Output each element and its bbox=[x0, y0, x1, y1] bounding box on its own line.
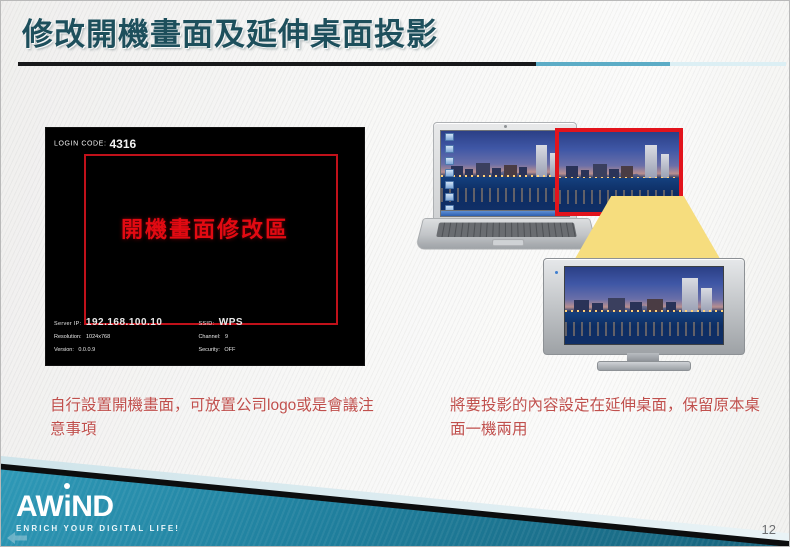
boot-info-right-column: SSID: WPS Channel: 9 Security: OFF bbox=[198, 317, 243, 356]
security-value: OFF bbox=[224, 347, 235, 353]
security-row: Security: OFF bbox=[198, 343, 243, 355]
boot-info-left-column: Server IP: 192.168.100.10 Resolution: 10… bbox=[54, 317, 194, 356]
editable-area-label: 開機畫面修改區 bbox=[46, 212, 364, 244]
desktop-icon[interactable] bbox=[445, 193, 454, 201]
server-ip-value: 192.168.100.10 bbox=[86, 317, 163, 328]
water-reflections bbox=[441, 188, 569, 202]
desktop-icons-column[interactable] bbox=[443, 133, 456, 208]
tv-bezel bbox=[543, 258, 745, 355]
laptop-base bbox=[415, 218, 598, 250]
desktop-icon[interactable] bbox=[445, 205, 454, 210]
desktop-icon[interactable] bbox=[445, 133, 454, 141]
channel-label: Channel: bbox=[198, 334, 220, 340]
desktop-icon[interactable] bbox=[445, 157, 454, 165]
slide-footer: AWiND ENRICH YOUR DIGITAL LIFE! bbox=[0, 450, 790, 547]
awind-logo: AWiND ENRICH YOUR DIGITAL LIFE! bbox=[16, 492, 180, 533]
desktop-icon[interactable] bbox=[445, 145, 454, 153]
resolution-value: 1024x768 bbox=[86, 334, 110, 340]
landmark-tower bbox=[536, 145, 548, 177]
water-reflections bbox=[565, 322, 723, 336]
version-row: Version: 0.0.0.9 bbox=[54, 343, 194, 355]
projector-tv-display bbox=[543, 258, 743, 370]
trackpad[interactable] bbox=[491, 239, 524, 246]
logo-letters-nd: ND bbox=[71, 490, 113, 523]
tv-screen bbox=[564, 266, 724, 345]
landmark-tower bbox=[701, 288, 712, 312]
boot-info-panel: Server IP: 192.168.100.10 Resolution: 10… bbox=[54, 317, 356, 356]
landmark-tower bbox=[661, 154, 669, 178]
laptop-screen bbox=[440, 130, 570, 211]
awind-tagline: ENRICH YOUR DIGITAL LIFE! bbox=[16, 525, 180, 533]
desktop-icon[interactable] bbox=[445, 169, 454, 177]
ssid-label: SSID: bbox=[198, 321, 214, 327]
power-led-icon bbox=[555, 271, 558, 274]
channel-value: 9 bbox=[225, 334, 228, 340]
desktop-icon[interactable] bbox=[445, 181, 454, 189]
extended-desktop-diagram bbox=[415, 118, 765, 373]
login-code-readout: LOGIN CODE:4316 bbox=[54, 135, 136, 153]
boot-splash-screen: LOGIN CODE:4316 開機畫面修改區 Server IP: 192.1… bbox=[46, 128, 364, 365]
login-code-label: LOGIN CODE: bbox=[54, 140, 107, 147]
city-skyline-wallpaper bbox=[441, 131, 569, 210]
logo-letter-a: A bbox=[16, 490, 36, 523]
projected-wallpaper bbox=[565, 267, 723, 344]
awind-logo-wordmark: AWiND bbox=[16, 492, 180, 522]
login-code-value: 4316 bbox=[110, 137, 137, 151]
rule-segment-pale bbox=[670, 62, 786, 66]
version-label: Version: bbox=[54, 347, 74, 353]
page-number: 12 bbox=[762, 522, 776, 537]
landmark-tower bbox=[682, 278, 698, 312]
security-label: Security: bbox=[198, 347, 219, 353]
back-arrow-icon[interactable] bbox=[6, 531, 28, 545]
rule-segment-blue bbox=[536, 62, 670, 66]
server-ip-row: Server IP: 192.168.100.10 bbox=[54, 317, 194, 329]
tv-stand-base bbox=[597, 361, 691, 371]
logo-letter-i: i bbox=[63, 490, 71, 523]
version-value: 0.0.0.9 bbox=[78, 347, 95, 353]
page-title: 修改開機畫面及延伸桌面投影 bbox=[22, 9, 438, 54]
landmark-tower bbox=[645, 145, 657, 179]
title-divider-rule bbox=[18, 62, 786, 66]
webcam-icon bbox=[504, 125, 507, 128]
caption-left: 自行設置開機畫面，可放置公司logo或是會議注意事項 bbox=[50, 394, 380, 442]
slide-canvas: 修改開機畫面及延伸桌面投影 LOGIN CODE:4316 開機畫面修改區 Se… bbox=[0, 0, 790, 547]
windows-taskbar[interactable] bbox=[440, 211, 570, 217]
server-ip-label: Server IP: bbox=[54, 321, 81, 327]
keyboard[interactable] bbox=[436, 223, 577, 237]
tv-stand-neck bbox=[627, 353, 659, 361]
caption-right: 將要投影的內容設定在延伸桌面，保留原本桌面一機兩用 bbox=[450, 394, 770, 442]
logo-letter-w: W bbox=[36, 490, 64, 523]
rule-segment-dark bbox=[18, 62, 536, 66]
